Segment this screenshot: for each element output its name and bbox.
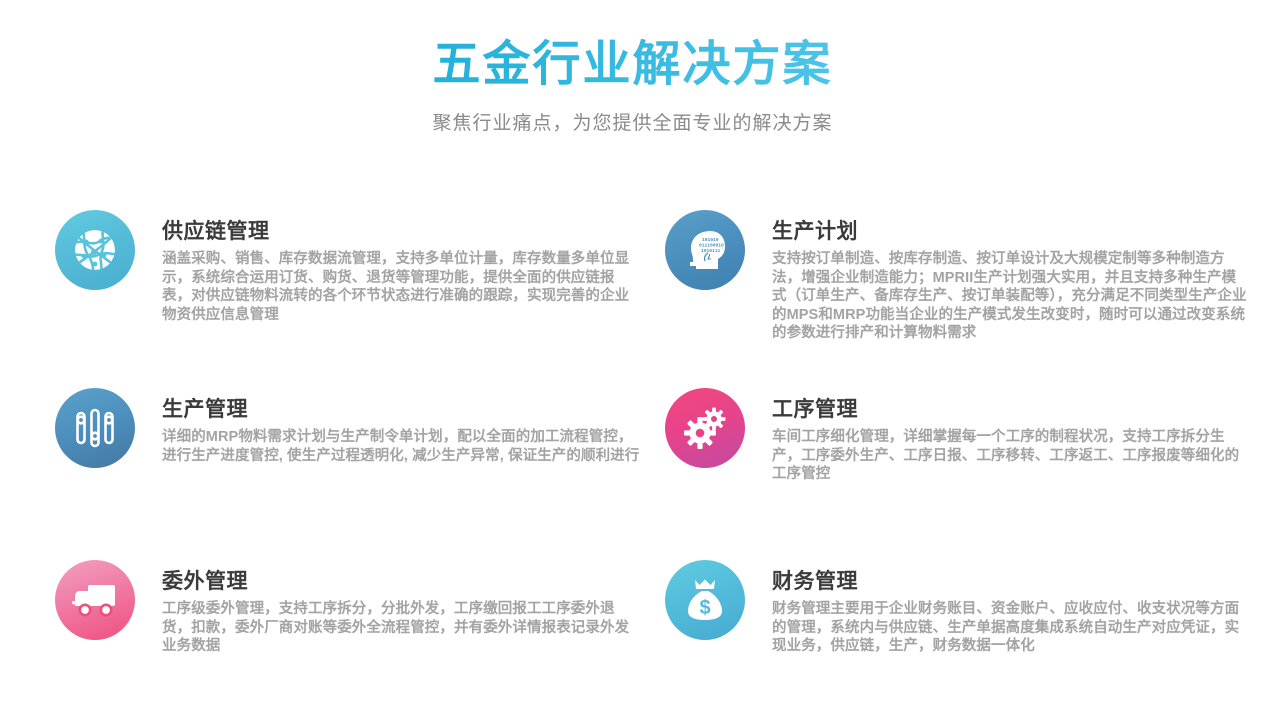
card-body: 委外管理 工序级委外管理，支持工序拆分，分批外发，工序缴回报工工序委外退货，扣款… — [162, 556, 640, 656]
brain-head-binary-icon: 101010 011100010 1010111 — [665, 210, 745, 290]
card-description: 详细的MRP物料需求计划与生产制令单计划，配以全面的加工流程管控，进行生产进度管… — [162, 428, 640, 465]
card-body: 财务管理 财务管理主要用于企业财务账目、资金账户、应收应付、收支状况等方面的管理… — [772, 556, 1250, 656]
svg-text:$: $ — [699, 597, 710, 619]
svg-text:101010: 101010 — [702, 237, 719, 243]
card-title: 工序管理 — [772, 398, 1250, 421]
card-supply-chain[interactable]: 供应链管理 涵盖采购、销售、库存数据流管理，支持多单位计量，库存数量多单位显示，… — [55, 206, 655, 384]
money-bag-icon: $ — [665, 560, 745, 640]
card-body: 生产管理 详细的MRP物料需求计划与生产制令单计划，配以全面的加工流程管控，进行… — [162, 384, 640, 465]
card-process-mgmt[interactable]: 工序管理 车间工序细化管理，详细掌握每一个工序的制程状况，支持工序拆分生产，工序… — [665, 384, 1265, 556]
card-title: 生产管理 — [162, 398, 640, 421]
page-subtitle: 聚焦行业痛点，为您提供全面专业的解决方案 — [0, 108, 1265, 135]
card-description: 支持按订单制造、按库存制造、按订单设计及大规模定制等多种制造方法，增强企业制造能… — [772, 250, 1250, 343]
card-production-plan[interactable]: 101010 011100010 1010111 生产计划 支持按订单制造、按库… — [665, 206, 1265, 384]
page-header: 五金行业解决方案 聚焦行业痛点，为您提供全面专业的解决方案 — [0, 0, 1265, 135]
card-description: 工序级委外管理，支持工序拆分，分批外发，工序缴回报工工序委外退货，扣款，委外厂商… — [162, 600, 640, 656]
card-title: 生产计划 — [772, 220, 1250, 243]
page-title: 五金行业解决方案 — [0, 38, 1265, 92]
card-title: 供应链管理 — [162, 220, 640, 243]
svg-text:011100010: 011100010 — [699, 243, 724, 249]
delivery-truck-icon — [55, 560, 135, 640]
card-title: 财务管理 — [772, 570, 1250, 593]
card-body: 工序管理 车间工序细化管理，详细掌握每一个工序的制程状况，支持工序拆分生产，工序… — [772, 384, 1250, 484]
svg-text:1010111: 1010111 — [701, 248, 721, 254]
gears-icon — [665, 388, 745, 468]
network-globe-icon — [55, 210, 135, 290]
card-outsourcing-mgmt[interactable]: 委外管理 工序级委外管理，支持工序拆分，分批外发，工序缴回报工工序委外退货，扣款… — [55, 556, 655, 716]
card-title: 委外管理 — [162, 570, 640, 593]
sliders-equalizer-icon — [55, 388, 135, 468]
card-description: 财务管理主要用于企业财务账目、资金账户、应收应付、收支状况等方面的管理，系统内与… — [772, 600, 1250, 656]
card-production-mgmt[interactable]: 生产管理 详细的MRP物料需求计划与生产制令单计划，配以全面的加工流程管控，进行… — [55, 384, 655, 556]
card-description: 涵盖采购、销售、库存数据流管理，支持多单位计量，库存数量多单位显示，系统综合运用… — [162, 250, 640, 324]
card-body: 供应链管理 涵盖采购、销售、库存数据流管理，支持多单位计量，库存数量多单位显示，… — [162, 206, 640, 324]
card-description: 车间工序细化管理，详细掌握每一个工序的制程状况，支持工序拆分生产，工序委外生产、… — [772, 428, 1250, 484]
card-body: 生产计划 支持按订单制造、按库存制造、按订单设计及大规模定制等多种制造方法，增强… — [772, 206, 1250, 343]
solution-cards-grid: 供应链管理 涵盖采购、销售、库存数据流管理，支持多单位计量，库存数量多单位显示，… — [0, 206, 1265, 716]
card-finance-mgmt[interactable]: $ 财务管理 财务管理主要用于企业财务账目、资金账户、应收应付、收支状况等方面的… — [665, 556, 1265, 716]
